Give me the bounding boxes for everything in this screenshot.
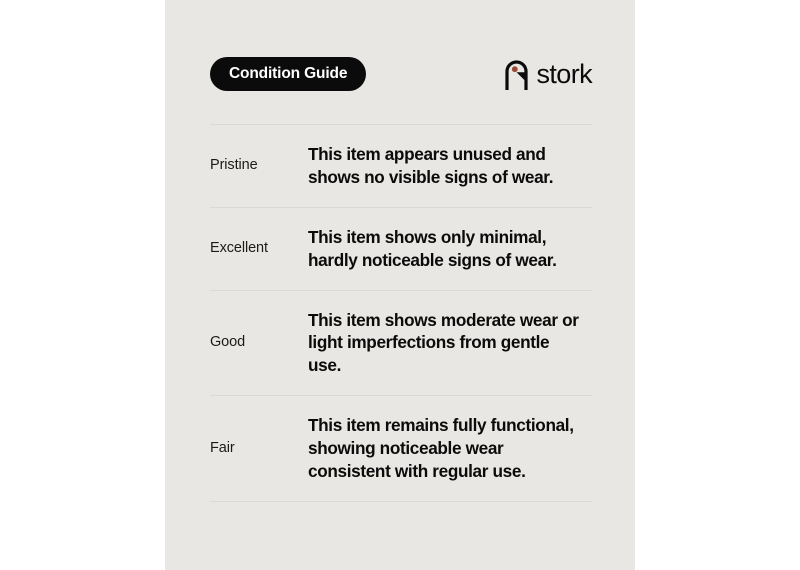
condition-label: Fair xyxy=(210,439,308,458)
condition-description: This item remains fully functional, show… xyxy=(308,396,592,501)
brand-name: stork xyxy=(536,59,592,90)
row-divider xyxy=(210,501,592,502)
condition-guide-card: Condition Guide stork Pristine This item… xyxy=(165,0,635,570)
stork-arch-logo-icon xyxy=(504,59,529,90)
table-row: Pristine This item appears unused and sh… xyxy=(210,125,592,207)
brand-lockup: stork xyxy=(504,58,592,90)
condition-label: Pristine xyxy=(210,156,308,175)
condition-description: This item shows moderate wear or light i… xyxy=(308,291,592,396)
condition-guide-badge: Condition Guide xyxy=(210,57,366,91)
condition-label: Excellent xyxy=(210,239,308,258)
condition-label: Good xyxy=(210,333,308,352)
condition-guide-table: Pristine This item appears unused and sh… xyxy=(210,124,592,502)
condition-description: This item shows only minimal, hardly not… xyxy=(308,208,592,290)
page-root: Condition Guide stork Pristine This item… xyxy=(0,0,800,570)
card-header: Condition Guide stork xyxy=(210,57,592,91)
table-row: Good This item shows moderate wear or li… xyxy=(210,291,592,396)
condition-description: This item appears unused and shows no vi… xyxy=(308,125,592,207)
table-row: Excellent This item shows only minimal, … xyxy=(210,208,592,290)
table-row: Fair This item remains fully functional,… xyxy=(210,396,592,501)
